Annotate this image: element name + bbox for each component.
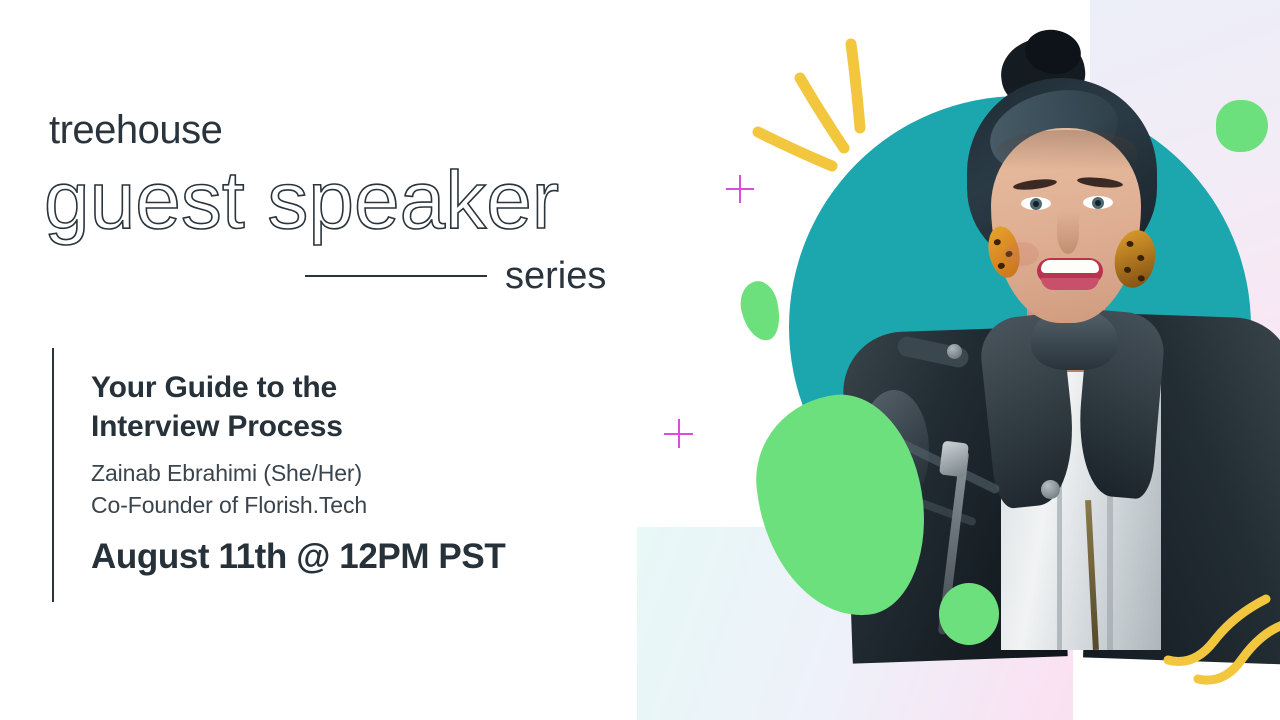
speaker-name: Zainab Ebrahimi (She/Her) (91, 458, 611, 490)
promo-slide: treehouse guest speaker series Your Guid… (0, 0, 1280, 720)
green-circle-topright (1216, 100, 1268, 152)
yellow-sparkle-strokes (748, 36, 898, 186)
green-blob-small (735, 277, 785, 344)
series-label: series (505, 255, 606, 298)
series-row: series (305, 253, 625, 299)
yellow-squiggle-lines (1160, 575, 1280, 690)
event-datetime: August 11th @ 12PM PST (91, 537, 611, 577)
vertical-divider-rule (52, 348, 54, 602)
headline-outline: guest speaker (44, 160, 559, 242)
brand-wordmark: treehouse (49, 108, 222, 153)
cheek-blush (1005, 242, 1039, 266)
event-details: Your Guide to the Interview Process Zain… (91, 368, 611, 577)
green-circle-bottom (939, 583, 999, 645)
eye-left (1021, 197, 1051, 210)
jacket-snap (947, 344, 962, 359)
jacket-snap (1041, 480, 1060, 499)
talk-title-line-1: Your Guide to the (91, 368, 611, 407)
lower-lip (1041, 278, 1099, 290)
nose (1057, 212, 1079, 254)
eye-right (1083, 196, 1113, 209)
series-divider-rule (305, 275, 487, 277)
forehead-shading (997, 130, 1137, 170)
talk-title-line-2: Interview Process (91, 407, 611, 446)
jacket-zipper-pull (939, 441, 969, 478)
speaker-role: Co-Founder of Florish.Tech (91, 490, 611, 522)
magenta-plus-icon (726, 175, 754, 203)
magenta-plus-icon (664, 419, 693, 448)
